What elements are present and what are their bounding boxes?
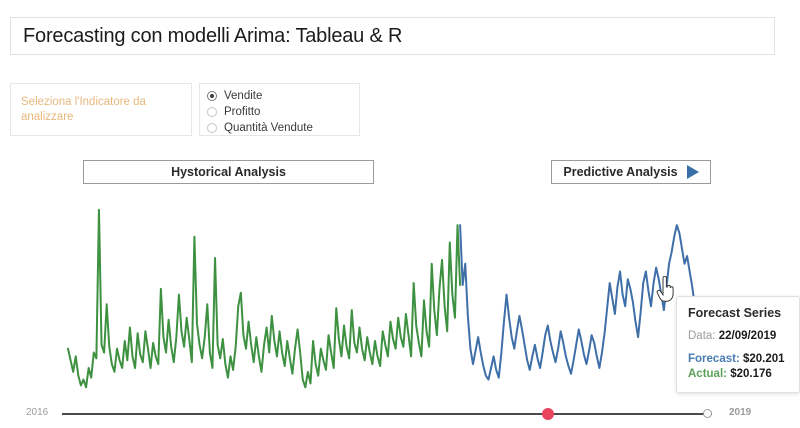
radio-selected-icon[interactable]: [207, 91, 217, 101]
slider-track[interactable]: [62, 413, 712, 415]
date-range-slider[interactable]: 2016 2019: [0, 403, 800, 428]
radio-option-vendite[interactable]: Vendite: [207, 88, 359, 103]
indicator-radio-group[interactable]: Vendite Profitto Quantità Vendute: [199, 83, 360, 136]
tooltip-actual-row: Actual: $20.176: [688, 367, 788, 382]
forecast-tooltip: Forecast Series Data: 22/09/2019 Forecas…: [676, 296, 800, 393]
tooltip-forecast-row: Forecast: $20.201: [688, 352, 788, 367]
tooltip-forecast-key: Forecast:: [688, 353, 740, 365]
tooltip-date-value: 22/09/2019: [719, 330, 777, 342]
tooltip-title: Forecast Series: [688, 306, 788, 320]
play-triangle-icon: [687, 165, 699, 179]
predictive-analysis-button[interactable]: Predictive Analysis: [551, 160, 711, 184]
tooltip-date-key: Data:: [688, 330, 716, 342]
historical-series-line: [68, 210, 460, 388]
dashboard-title-container: Forecasting con modelli Arima: Tableau &…: [10, 17, 775, 55]
forecast-series-line: [460, 225, 697, 379]
radio-label-quantita-vendute: Quantità Vendute: [224, 122, 313, 134]
slider-handle-end[interactable]: [703, 409, 712, 418]
indicator-filter-label: Seleziona l'Indicatore da analizzare: [11, 95, 191, 125]
tooltip-actual-value: $20.176: [730, 368, 772, 380]
tooltip-forecast-value: $20.201: [743, 353, 785, 365]
slider-handle-current[interactable]: [542, 408, 554, 420]
radio-label-vendite: Vendite: [224, 90, 262, 102]
page-title: Forecasting con modelli Arima: Tableau &…: [11, 25, 402, 48]
tooltip-actual-key: Actual:: [688, 368, 727, 380]
historical-analysis-button[interactable]: Hystorical Analysis: [83, 160, 374, 184]
radio-unselected-icon[interactable]: [207, 123, 217, 133]
predictive-analysis-label: Predictive Analysis: [563, 165, 677, 179]
radio-option-profitto[interactable]: Profitto: [207, 104, 359, 119]
slider-end-year-label: 2019: [729, 407, 751, 418]
radio-unselected-icon[interactable]: [207, 107, 217, 117]
tooltip-date-row: Data: 22/09/2019: [688, 329, 788, 344]
historical-analysis-label: Hystorical Analysis: [171, 165, 286, 179]
radio-label-profitto: Profitto: [224, 106, 260, 118]
slider-start-year-label: 2016: [26, 407, 48, 418]
indicator-filter-label-container: Seleziona l'Indicatore da analizzare: [10, 83, 192, 136]
radio-option-quantita-vendute[interactable]: Quantità Vendute: [207, 120, 359, 135]
